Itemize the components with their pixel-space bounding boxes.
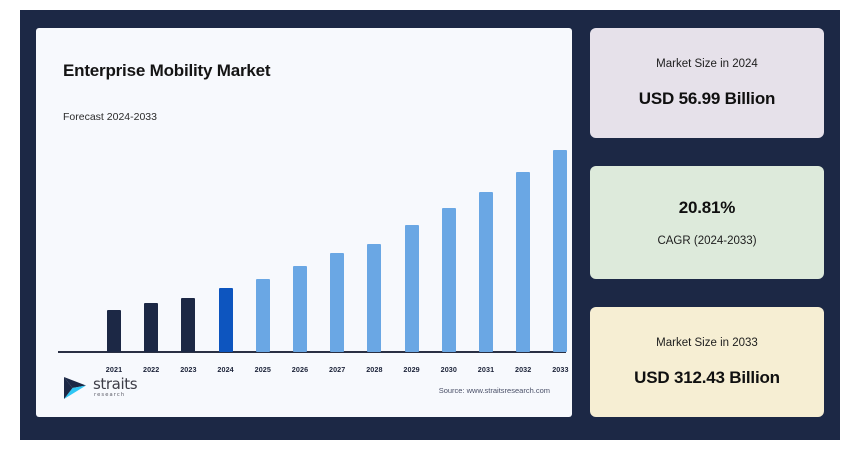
bar-2025 <box>256 279 270 352</box>
bar-2031 <box>479 192 493 352</box>
x-axis-label-2023: 2023 <box>170 365 206 374</box>
stat-card-market-size-2024: Market Size in 2024 USD 56.99 Billion <box>590 28 824 138</box>
x-axis-label-2028: 2028 <box>356 365 392 374</box>
source-attribution: Source: www.straitsresearch.com <box>439 386 550 395</box>
x-axis-label-2030: 2030 <box>431 365 467 374</box>
card-value: 20.81% <box>679 198 735 218</box>
bar-2033 <box>553 150 567 352</box>
x-axis-label-2029: 2029 <box>394 365 430 374</box>
card-value: USD 56.99 Billion <box>639 89 775 109</box>
bar-chart-plot: 2021202220232024202520262027202820292030… <box>36 28 572 417</box>
x-axis-label-2032: 2032 <box>505 365 541 374</box>
x-axis-label-2024: 2024 <box>208 365 244 374</box>
chart-panel: Enterprise Mobility Market Forecast 2024… <box>36 28 572 417</box>
x-axis-label-2026: 2026 <box>282 365 318 374</box>
logo-text: straits research <box>93 377 137 398</box>
card-label: Market Size in 2024 <box>656 58 758 70</box>
bar-2028 <box>367 244 381 352</box>
bar-2029 <box>405 225 419 352</box>
x-axis-label-2033: 2033 <box>542 365 578 374</box>
bar-2024 <box>219 288 233 352</box>
x-axis-label-2022: 2022 <box>133 365 169 374</box>
card-value: USD 312.43 Billion <box>634 368 780 388</box>
stat-card-cagr: 20.81% CAGR (2024-2033) <box>590 166 824 279</box>
arrow-logo-icon <box>63 376 89 400</box>
x-axis-label-2027: 2027 <box>319 365 355 374</box>
bar-2032 <box>516 172 530 352</box>
x-axis-label-2031: 2031 <box>468 365 504 374</box>
card-label: CAGR (2024-2033) <box>657 235 756 247</box>
bar-2027 <box>330 253 344 352</box>
logo-tagline: research <box>94 393 137 398</box>
bar-2022 <box>144 303 158 352</box>
logo-brand-name: straits <box>93 377 137 392</box>
bar-2030 <box>442 208 456 352</box>
bar-2021 <box>107 310 121 352</box>
card-label: Market Size in 2033 <box>656 337 758 349</box>
stat-card-market-size-2033: Market Size in 2033 USD 312.43 Billion <box>590 307 824 417</box>
x-axis-label-2025: 2025 <box>245 365 281 374</box>
x-axis-label-2021: 2021 <box>96 365 132 374</box>
straits-research-logo: straits research <box>63 376 137 400</box>
bar-2026 <box>293 266 307 352</box>
infographic-frame: Enterprise Mobility Market Forecast 2024… <box>20 10 840 440</box>
bar-2023 <box>181 298 195 352</box>
